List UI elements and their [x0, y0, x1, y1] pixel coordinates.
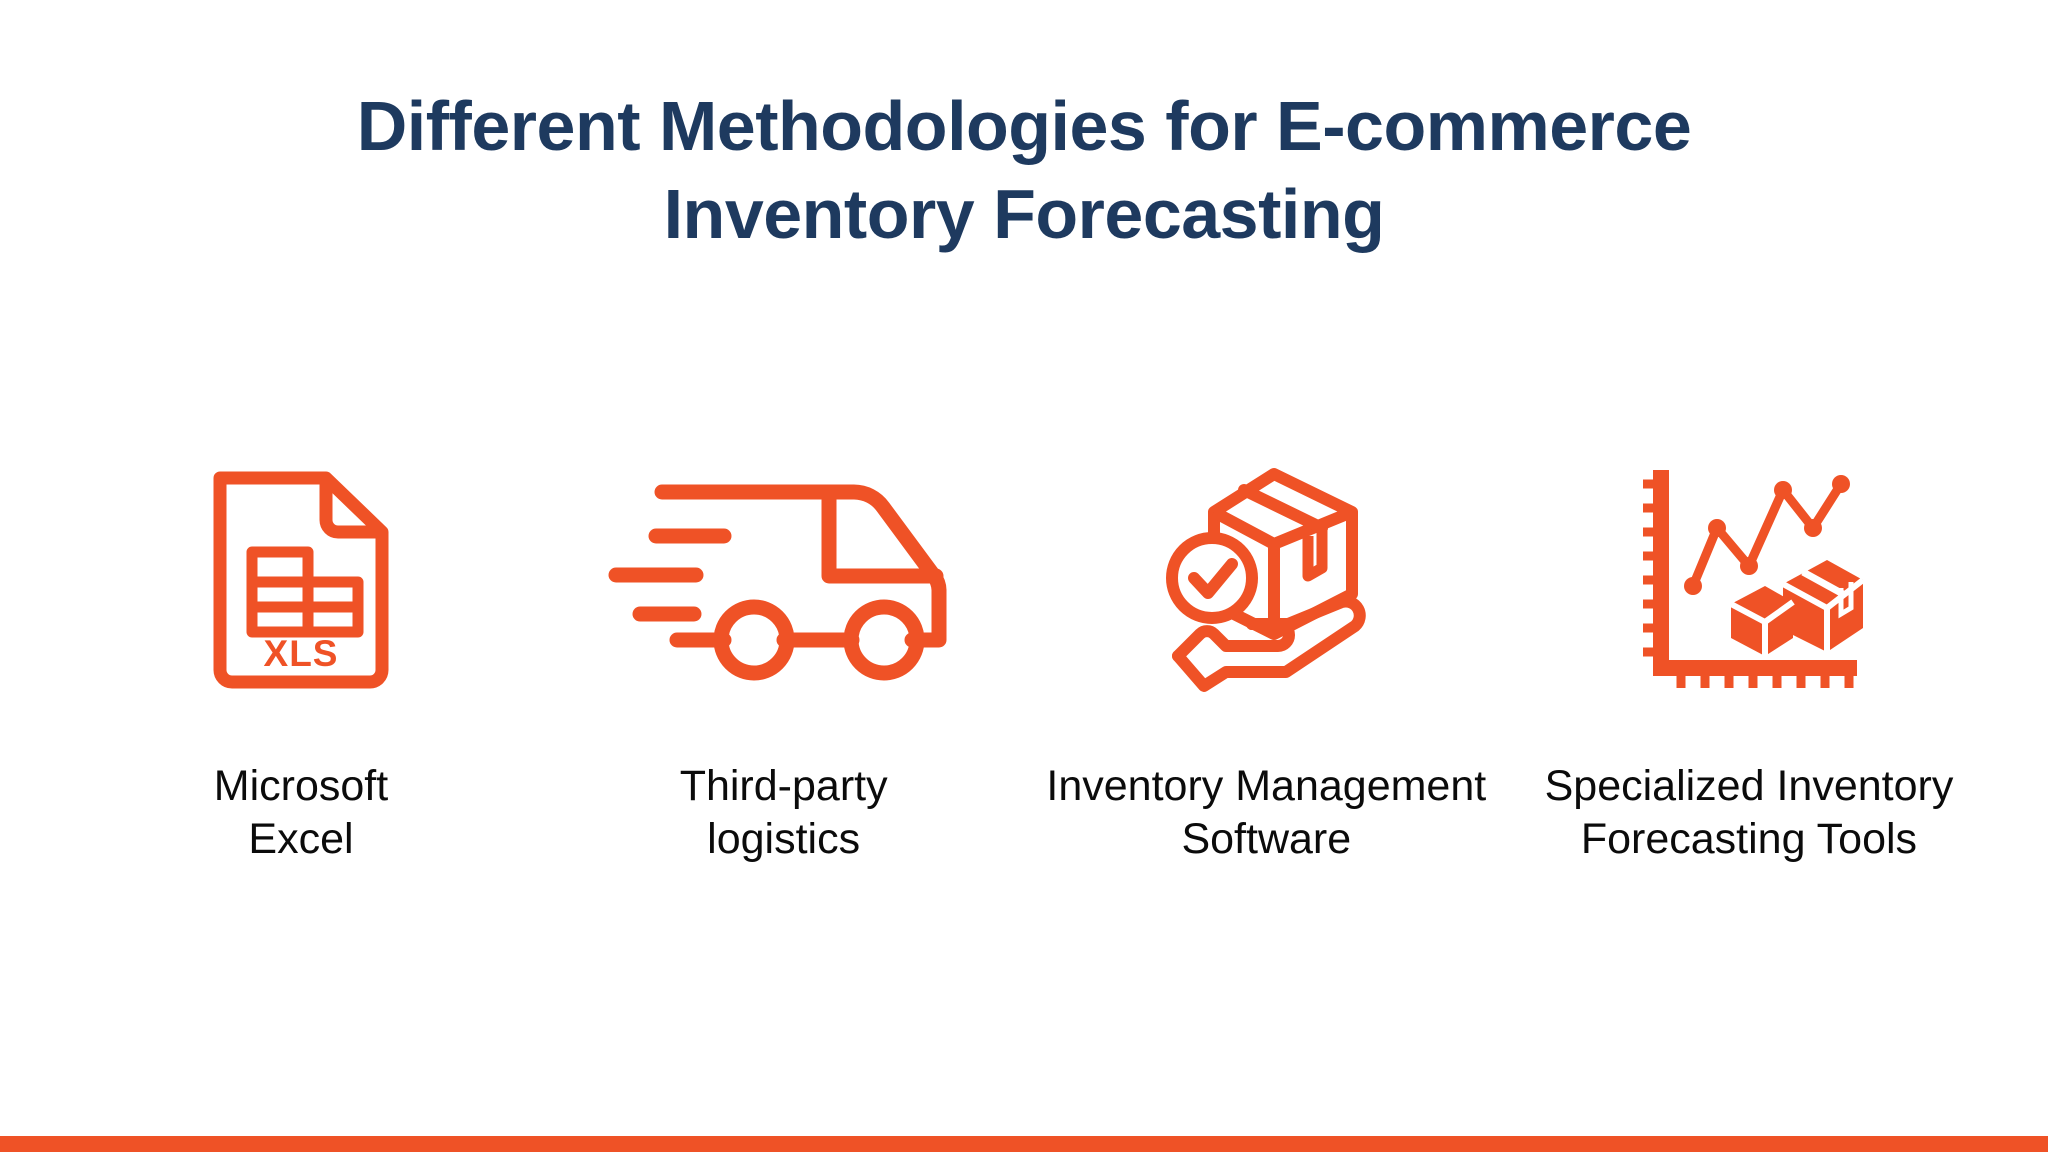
xls-spreadsheet-file-icon: XLS: [208, 455, 394, 705]
hand-holding-package-check-icon: [1156, 455, 1376, 705]
bottom-accent-bar: [0, 1136, 2048, 1152]
methodology-item-microsoft-excel[interactable]: XLS Microsoft Excel: [60, 455, 542, 866]
page-title-line-2: Inventory Forecasting: [264, 170, 1784, 258]
methodology-item-third-party-logistics[interactable]: Third-party logistics: [543, 455, 1025, 866]
page-title: Different Methodologies for E-commerce I…: [0, 82, 2048, 258]
delivery-truck-icon: [594, 455, 974, 705]
methodology-label: Microsoft Excel: [214, 760, 388, 866]
page-title-line-1: Different Methodologies for E-commerce: [264, 82, 1784, 170]
methodology-list: XLS Microsoft Excel: [60, 455, 1990, 866]
methodology-label: Inventory Management Software: [1046, 760, 1486, 866]
methodology-label: Specialized Inventory Forecasting Tools: [1545, 760, 1954, 866]
slide-canvas: Different Methodologies for E-commerce I…: [0, 0, 2048, 1152]
svg-text:XLS: XLS: [264, 633, 339, 674]
line-chart-with-boxes-icon: [1631, 455, 1867, 705]
methodology-item-specialized-forecasting-tools[interactable]: Specialized Inventory Forecasting Tools: [1508, 455, 1990, 866]
methodology-item-inventory-management-software[interactable]: Inventory Management Software: [1025, 455, 1507, 866]
methodology-label: Third-party logistics: [680, 760, 888, 866]
